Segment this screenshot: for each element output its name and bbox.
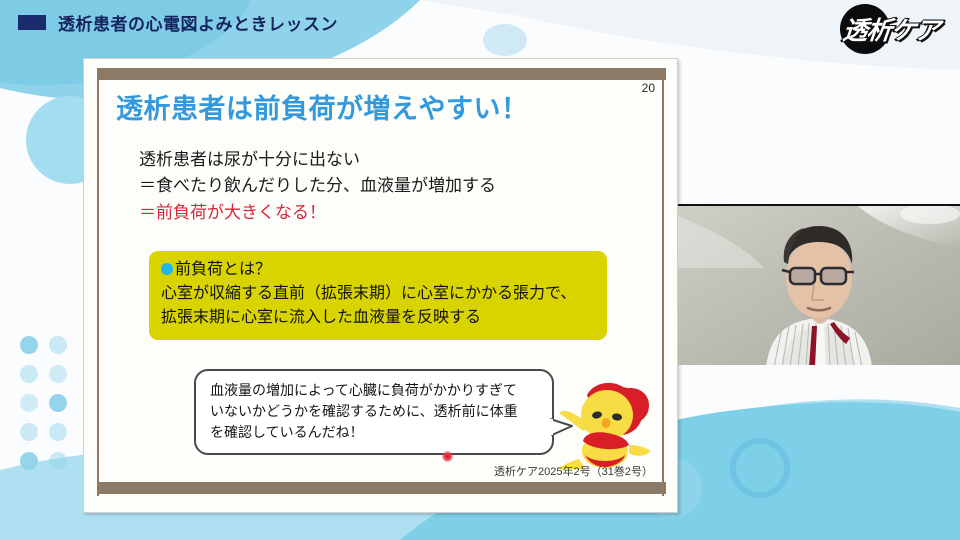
cyan-dot-icon <box>161 263 173 275</box>
laser-pointer-dot-icon <box>442 451 453 462</box>
body-line: 透析患者は尿が十分に出ない <box>139 147 496 173</box>
callout-line: 心室が収縮する直前（拡張末期）に心室にかかる張力で、 <box>161 282 595 306</box>
slide-title: 透析患者は前負荷が増えやすい！ <box>116 87 529 126</box>
speech-bubble: 血液量の増加によって心臓に負荷がかかりすぎて いないかどうかを確認するために、透… <box>194 369 554 455</box>
callout-heading: 前負荷とは？ <box>175 261 271 278</box>
presenter-video-panel[interactable] <box>678 204 960 365</box>
bubble-line: いないかどうかを確認するために、透析前に体重 <box>210 401 540 422</box>
slide-page-number: 20 <box>642 81 655 95</box>
slide-canvas: 20 透析患者は前負荷が増えやすい！ 透析患者は尿が十分に出ない ＝食べたり飲ん… <box>83 58 678 513</box>
brand-logo: 透析ケア <box>832 2 952 56</box>
callout-box: 前負荷とは？ 心室が収縮する直前（拡張末期）に心室にかかる張力で、 拡張末期に心… <box>149 251 607 340</box>
slide-citation: 透析ケア2025年2号（31巻2号） <box>494 463 653 479</box>
slide-frame-right <box>662 68 664 496</box>
presenter-webcam-feed-icon <box>678 206 960 365</box>
presentation-viewer: 透析患者の心電図よみときレッスン 透析ケア 20 透析患者は前負荷が増えやすい！… <box>0 0 960 540</box>
slide-frame-top <box>97 68 666 80</box>
bubble-line: 血液量の増加によって心臓に負荷がかかりすぎて <box>210 380 540 401</box>
body-line: ＝食べたり飲んだりした分、血液量が増加する <box>139 173 496 199</box>
brand-logo-text: 透析ケア <box>841 11 953 47</box>
callout-line: 拡張末期に心室に流入した血液量を反映する <box>161 306 595 330</box>
slide-frame-left <box>97 68 99 496</box>
square-bullet-icon <box>18 15 46 30</box>
bubble-line: を確認しているんだね！ <box>210 422 540 443</box>
header-title: 透析患者の心電図よみときレッスン <box>58 10 338 35</box>
chick-mascot-icon <box>549 371 659 471</box>
slide-body-text: 透析患者は尿が十分に出ない ＝食べたり飲んだりした分、血液量が増加する ＝前負荷… <box>139 147 496 226</box>
body-line-highlight: ＝前負荷が大きくなる！ <box>139 200 496 226</box>
callout-heading-row: 前負荷とは？ <box>161 258 595 282</box>
header-bar: 透析患者の心電図よみときレッスン <box>0 0 960 44</box>
slide-frame-bottom <box>97 482 666 494</box>
